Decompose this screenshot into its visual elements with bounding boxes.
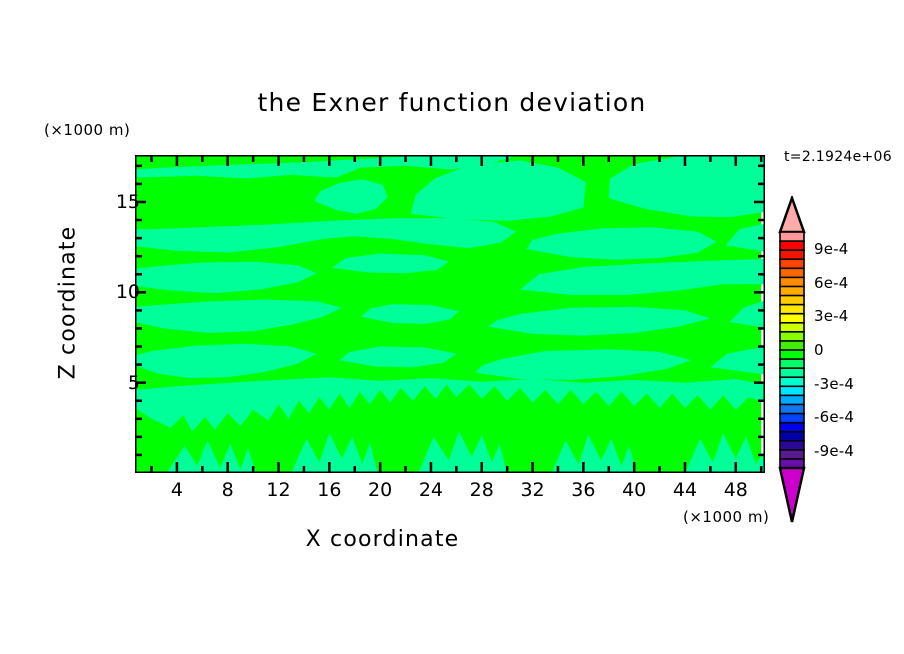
colorbar-band [780, 359, 804, 368]
x-tick-label: 8 [222, 479, 234, 501]
colorbar-band [780, 268, 804, 277]
x-tick-label: 40 [622, 479, 646, 501]
x-tick-label: 16 [317, 479, 341, 501]
colorbar-band [780, 323, 804, 332]
y-tick-label: 15 [96, 191, 140, 213]
colorbar [776, 196, 812, 526]
colorbar-band [780, 305, 804, 314]
colorbar-band [780, 241, 804, 250]
y-axis-unit-label: (×1000 m) [44, 121, 130, 139]
colorbar-band [780, 259, 804, 268]
colorbar-tick-label: -3e-4 [814, 375, 854, 393]
x-tick-label: 28 [470, 479, 494, 501]
x-axis-unit-label: (×1000 m) [683, 508, 769, 526]
colorbar-band [780, 404, 804, 413]
colorbar-band [780, 332, 804, 341]
colorbar-band [780, 232, 804, 241]
x-tick-label: 12 [266, 479, 290, 501]
y-axis-title: Z coordinate [56, 213, 81, 393]
colorbar-band [780, 377, 804, 386]
colorbar-band [780, 277, 804, 286]
colorbar-band [780, 450, 804, 459]
colorbar-band [780, 423, 804, 432]
contour-plot-figure: the Exner function deviation (×1000 m) (… [0, 0, 904, 654]
x-tick-label: 36 [571, 479, 595, 501]
x-tick-label: 32 [520, 479, 544, 501]
colorbar-band [780, 350, 804, 359]
colorbar-band [780, 441, 804, 450]
y-tick-label: 5 [96, 372, 140, 394]
x-tick-label: 4 [171, 479, 183, 501]
colorbar-band [780, 368, 804, 377]
page-title: the Exner function deviation [0, 88, 904, 117]
colorbar-tick-label: 9e-4 [814, 240, 849, 258]
colorbar-overflow-low [780, 468, 804, 522]
colorbar-band [780, 386, 804, 395]
colorbar-band [780, 395, 804, 404]
x-tick-label: 24 [419, 479, 443, 501]
colorbar-band [780, 250, 804, 259]
colorbar-band [780, 432, 804, 441]
colorbar-band [780, 286, 804, 295]
colorbar-tick-label: -9e-4 [814, 442, 854, 460]
contour-field [135, 155, 765, 473]
x-axis-title: X coordinate [0, 527, 765, 552]
colorbar-band [780, 341, 804, 350]
colorbar-tick-label: 6e-4 [814, 274, 849, 292]
colorbar-band [780, 414, 804, 423]
x-tick-label: 20 [368, 479, 392, 501]
colorbar-tick-label: -6e-4 [814, 408, 854, 426]
colorbar-band [780, 314, 804, 323]
y-tick-label: 10 [96, 281, 140, 303]
colorbar-tick-label: 3e-4 [814, 307, 849, 325]
colorbar-tick-label: 0 [814, 341, 824, 359]
colorbar-overflow-high [780, 198, 804, 232]
colorbar-band [780, 296, 804, 305]
x-tick-label: 48 [724, 479, 748, 501]
x-tick-label: 44 [673, 479, 697, 501]
time-stamp-label: t=2.1924e+06 [784, 149, 892, 165]
